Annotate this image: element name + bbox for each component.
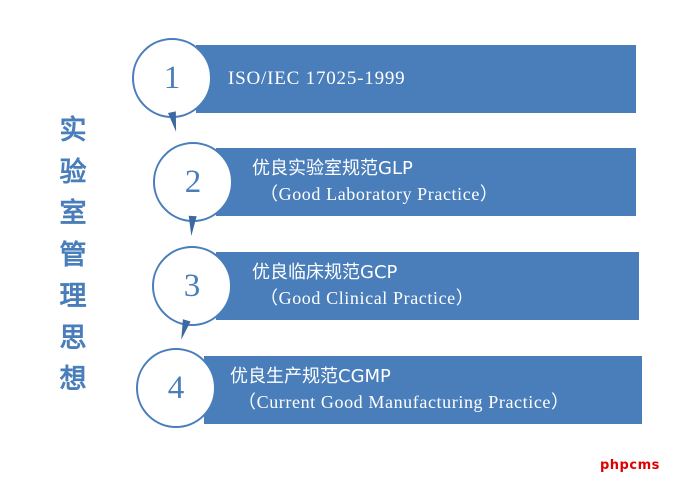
item-bar-1[interactable]: ISO/IEC 17025-1999 (196, 45, 636, 113)
item-text-2: 优良实验室规范GLP （Good Laboratory Practice） (252, 156, 632, 208)
item-circle-2[interactable]: 2 (153, 142, 233, 222)
item-number-4: 4 (168, 372, 185, 405)
item-bar-4[interactable]: 优良生产规范CGMP （Current Good Manufacturing P… (204, 356, 642, 424)
item-circle-3[interactable]: 3 (152, 246, 232, 326)
vertical-title: 实验室管理思想 (52, 110, 94, 402)
item-bar-3[interactable]: 优良临床规范GCP （Good Clinical Practice） (216, 252, 639, 320)
item-label-cn-2: 优良实验室规范GLP (252, 156, 632, 181)
item-label-cn-4: 优良生产规范CGMP (230, 364, 638, 389)
item-label-en-2: （Good Laboratory Practice） (252, 181, 632, 208)
item-text-1: ISO/IEC 17025-1999 (228, 67, 632, 91)
item-number-1: 1 (164, 62, 181, 95)
item-label-en-3: （Good Clinical Practice） (252, 285, 635, 312)
item-label-cn-1: ISO/IEC 17025-1999 (228, 67, 632, 91)
connector-icon-2-3 (187, 216, 196, 237)
item-circle-4[interactable]: 4 (136, 348, 216, 428)
item-label-cn-3: 优良临床规范GCP (252, 260, 635, 285)
item-label-en-4: （Current Good Manufacturing Practice） (230, 389, 638, 416)
item-text-3: 优良临床规范GCP （Good Clinical Practice） (252, 260, 635, 312)
item-text-4: 优良生产规范CGMP （Current Good Manufacturing P… (230, 364, 638, 416)
slide-canvas: 实验室管理思想 ISO/IEC 17025-1999 1 优良实验室规范GLP … (0, 0, 700, 484)
watermark-label: phpcms (600, 458, 660, 473)
item-bar-2[interactable]: 优良实验室规范GLP （Good Laboratory Practice） (216, 148, 636, 216)
item-circle-1[interactable]: 1 (132, 38, 212, 118)
item-number-2: 2 (185, 166, 202, 199)
item-number-3: 3 (184, 270, 201, 303)
